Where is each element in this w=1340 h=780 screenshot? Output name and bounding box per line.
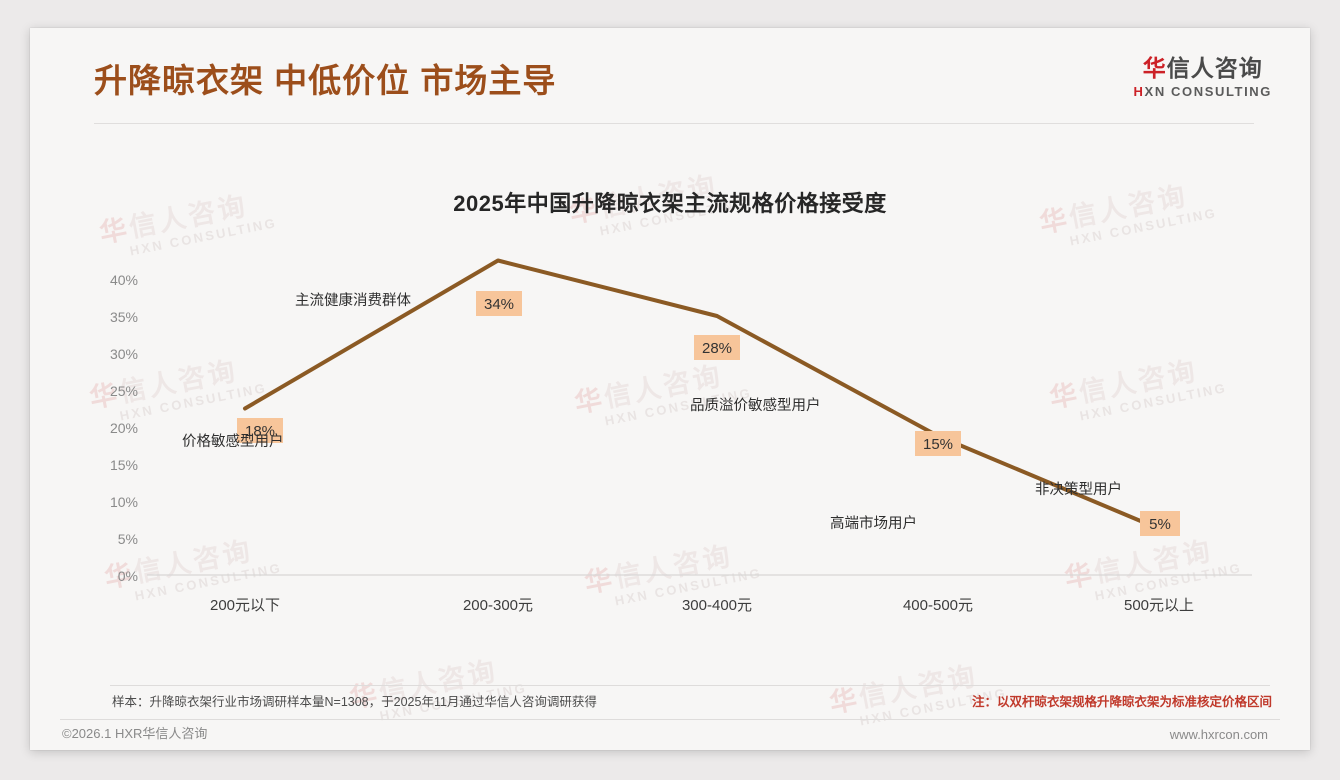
- annotation-label-3: 高端市场用户: [830, 515, 917, 532]
- logo-cn-red: 华: [1143, 55, 1167, 81]
- annotation-label-0: 价格敏感型用户: [182, 433, 284, 450]
- y-tick-label: 5%: [118, 531, 138, 547]
- x-tick-label: 400-500元: [903, 597, 973, 614]
- chart-container: 0% 5% 10% 15% 20% 25% 30% 35% 40% 18%: [30, 28, 1310, 750]
- y-axis-ticks: 0% 5% 10% 15% 20% 25% 30% 35% 40%: [110, 272, 138, 584]
- y-tick-label: 15%: [110, 457, 138, 473]
- annotation-label-4: 非决策型用户: [1035, 481, 1122, 498]
- value-label-text: 28%: [702, 340, 732, 357]
- value-label-4: 5%: [1140, 511, 1180, 536]
- sample-note: 样本：升降晾衣架行业市场调研样本量N=1308，于2025年11月通过华信人咨询…: [112, 691, 597, 710]
- x-tick-label: 200元以下: [210, 597, 280, 614]
- logo-cn-rest: 信人咨询: [1167, 55, 1263, 81]
- red-note: 注：以双杆晾衣架规格升降晾衣架为标准核定价格区间: [972, 691, 1272, 710]
- value-label-text: 5%: [1149, 516, 1171, 533]
- value-label-3: 15%: [915, 431, 961, 456]
- slide-header: 升降晾衣架 中低价位 市场主导 华信人咨询 HXN CONSULTING: [30, 28, 1310, 124]
- line-chart-svg: 0% 5% 10% 15% 20% 25% 30% 35% 40% 18%: [30, 28, 1310, 750]
- logo-en-red: H: [1134, 84, 1145, 99]
- y-tick-label: 25%: [110, 383, 138, 399]
- y-tick-label: 20%: [110, 420, 138, 436]
- x-tick-label: 500元以上: [1124, 597, 1194, 614]
- annotation-label-2: 品质溢价敏感型用户: [690, 397, 821, 414]
- company-logo: 华信人咨询 HXN CONSULTING: [1134, 56, 1272, 99]
- logo-chinese: 华信人咨询: [1134, 56, 1272, 81]
- y-tick-label: 10%: [110, 494, 138, 510]
- footer-divider: [60, 719, 1280, 720]
- x-tick-label: 300-400元: [682, 597, 752, 614]
- value-label-2: 28%: [694, 335, 740, 360]
- value-label-1: 34%: [476, 291, 522, 316]
- y-tick-label: 40%: [110, 272, 138, 288]
- header-divider: [94, 123, 1254, 124]
- slide-card: 华信人咨询 HXN CONSULTING 华信人咨询 HXN CONSULTIN…: [30, 28, 1310, 750]
- value-label-text: 15%: [923, 436, 953, 453]
- chart-title: 2025年中国升降晾衣架主流规格价格接受度: [30, 186, 1310, 218]
- y-tick-label: 35%: [110, 309, 138, 325]
- copyright-text: ©2026.1 HXR华信人咨询: [62, 723, 207, 742]
- x-axis-ticks: 200元以下 200-300元 300-400元 400-500元 500元以上: [210, 597, 1194, 614]
- note-divider: [110, 685, 1270, 686]
- logo-en-rest: XN CONSULTING: [1145, 84, 1272, 99]
- y-tick-label: 30%: [110, 346, 138, 362]
- x-tick-label: 200-300元: [463, 597, 533, 614]
- y-tick-label: 0%: [118, 568, 138, 584]
- annotation-label-1: 主流健康消费群体: [295, 292, 411, 309]
- website-text: www.hxrcon.com: [1170, 727, 1268, 742]
- value-label-text: 34%: [484, 296, 514, 313]
- logo-english: HXN CONSULTING: [1134, 84, 1272, 99]
- page-title: 升降晾衣架 中低价位 市场主导: [94, 54, 556, 102]
